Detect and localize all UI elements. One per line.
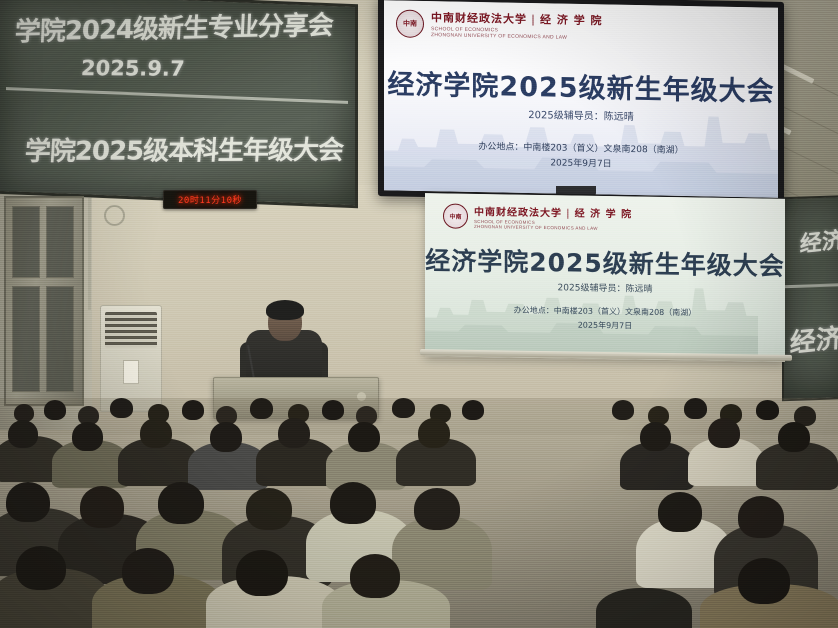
student-audience	[0, 398, 838, 628]
led-clock-text: 20时11分10秒	[178, 193, 242, 206]
audience-head	[778, 422, 810, 452]
audience-head	[158, 482, 204, 524]
slide-title: 经济学院2025级新生年级大会	[425, 241, 785, 283]
audience-head	[80, 486, 124, 528]
projection-screen[interactable]: 中南 中南财经政法大学 | 经 济 学 院 SCHOOL OF ECONOMIC…	[425, 193, 785, 362]
side-door[interactable]	[4, 196, 84, 406]
university-seal-icon: 中南	[396, 9, 424, 38]
air-conditioner-unit	[100, 305, 162, 412]
wall-mounted-monitor[interactable]: 中南 中南财经政法大学 | 经 济 学 院 SCHOOL OF ECONOMIC…	[378, 0, 784, 204]
university-logo: 中南 中南财经政法大学 | 经 济 学 院 SCHOOL OF ECONOMIC…	[396, 8, 603, 41]
chalk-text-top: 学院2024级新生专业分享会	[14, 5, 333, 49]
audience-shoulders	[596, 588, 692, 628]
university-seal-icon: 中南	[443, 203, 468, 228]
audience-head	[418, 418, 450, 448]
chalk-text-date: 2025.9.7	[80, 56, 185, 81]
audience-head	[236, 550, 288, 596]
audience-head	[414, 488, 460, 530]
audience-head	[8, 420, 38, 448]
logo-divider: |	[531, 13, 536, 26]
logo-school-name: 经 济 学 院	[540, 11, 603, 28]
chalk-text-bottom: 学院2025级本科生年级大会	[24, 130, 344, 168]
audience-head	[44, 400, 66, 420]
audience-head	[16, 546, 66, 590]
chalk-text-right-bottom: 经济	[789, 317, 838, 360]
logo-university-name: 中南财经政法大学	[474, 203, 562, 219]
ac-vent-grille	[105, 312, 157, 348]
audience-head	[658, 492, 702, 532]
wall-clock	[104, 205, 125, 226]
wall-conduit	[88, 198, 91, 310]
audience-head	[182, 400, 204, 420]
audience-head	[72, 422, 103, 451]
audience-head	[738, 558, 790, 604]
audience-head	[322, 400, 344, 420]
presenter-hair	[266, 300, 304, 320]
university-logo: 中南 中南财经政法大学 | 经 济 学 院 SCHOOL OF ECONOMIC…	[443, 202, 632, 231]
audience-head	[684, 398, 707, 419]
lecture-hall-photo: 学院2024级新生专业分享会 2025.9.7 学院2025级本科生年级大会 2…	[0, 0, 838, 628]
logo-divider: |	[566, 208, 571, 219]
audience-head	[210, 422, 242, 452]
ac-control-panel[interactable]	[123, 360, 139, 384]
audience-head	[348, 422, 380, 452]
chalk-text-right-top: 经济	[799, 222, 838, 259]
blackboard-left: 学院2024级新生专业分享会 2025.9.7 学院2025级本科生年级大会	[0, 0, 358, 208]
audience-head	[250, 398, 273, 419]
logo-university-name: 中南财经政法大学	[431, 9, 527, 27]
audience-head	[122, 548, 174, 594]
audience-head	[612, 400, 634, 420]
audience-head	[738, 496, 784, 538]
slide-title: 经济学院2025级新生年级大会	[384, 62, 778, 109]
led-clock-display: 20时11分10秒	[163, 190, 257, 209]
audience-head	[6, 482, 50, 522]
audience-head	[350, 554, 400, 598]
audience-head	[110, 398, 133, 418]
audience-head	[330, 482, 376, 524]
audience-head	[246, 488, 292, 530]
audience-head	[278, 418, 310, 448]
blackboard-right: 经济 经济	[782, 195, 838, 402]
audience-head	[392, 398, 415, 418]
audience-head	[140, 418, 172, 448]
audience-head	[708, 418, 740, 448]
audience-head	[640, 422, 671, 451]
audience-head	[462, 400, 484, 420]
logo-school-name: 经 济 学 院	[575, 205, 632, 221]
audience-head	[756, 400, 779, 420]
